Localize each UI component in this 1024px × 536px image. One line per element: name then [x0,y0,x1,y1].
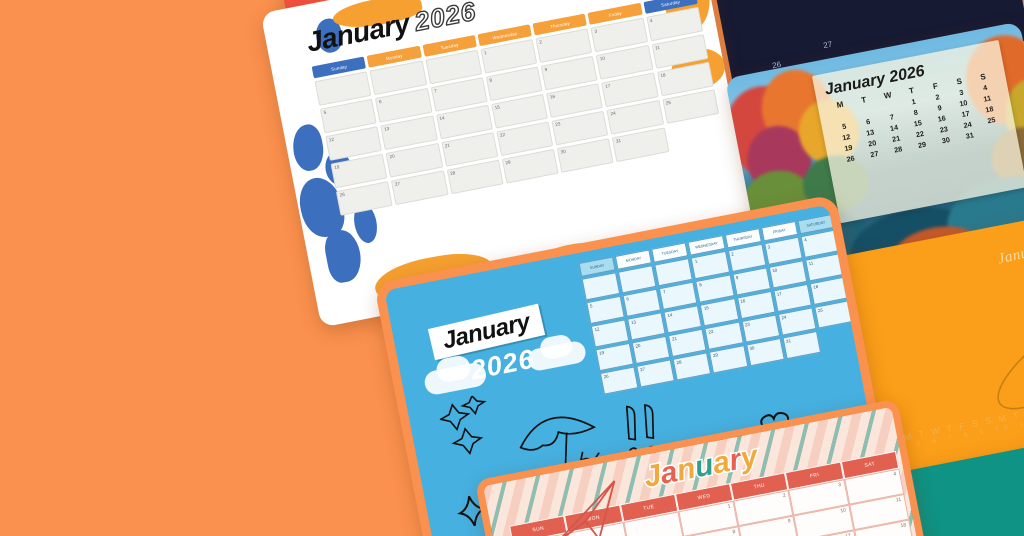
day-number: 1 [484,50,487,55]
day-number: 4 [649,18,652,23]
stars-icon [437,391,509,471]
day-number: 11 [808,260,813,266]
calendar-day-cell[interactable]: 25 [814,300,853,328]
calendar-day-cell[interactable]: 31 [782,331,821,359]
day-number: 8 [489,78,492,83]
day-number: 3 [767,244,770,249]
day-number: 5 [590,303,593,308]
day-number: 14 [439,115,445,121]
day-number: 17 [776,291,782,297]
day-number: 10 [772,267,778,273]
day-number: 25 [665,100,671,106]
day-number: 20 [635,343,641,349]
day-number: 27 [640,366,646,372]
day-number: 5 [323,110,326,115]
day-number: 30 [560,149,566,155]
calendar-day-cell[interactable]: 30 [746,338,785,366]
day-number: 23 [745,322,751,328]
day-number: 14 [667,312,673,318]
day-number: 18 [813,284,819,290]
calendar-day-cell[interactable]: 25 [979,113,1005,126]
day-number: 22 [500,132,506,138]
day-number: 10 [599,56,605,62]
calendar-day-cell[interactable]: 28 [885,143,911,156]
day-number: 26 [603,374,609,380]
day-number: 15 [494,105,500,111]
day-number: 4 [804,237,807,242]
day-number: 8 [699,282,702,287]
day-number: 6 [378,99,381,104]
day-number: 11 [896,497,902,504]
calendar-year: 2026 [412,0,478,37]
day-number: 28 [676,359,682,365]
day-number: 29 [713,352,719,358]
day-number: 8 [732,529,736,535]
day-number: 13 [631,319,637,325]
day-number: 10 [840,507,847,514]
day-number: 7 [434,88,437,93]
calendar-day-cell[interactable]: 27 [862,147,888,160]
day-number: 24 [610,111,616,117]
calendar-day-cell[interactable]: 31 [957,129,983,142]
day-number: 28 [450,170,456,176]
day-number: 1 [727,503,731,509]
day-number: 12 [329,137,335,143]
day-number: 15 [703,305,709,311]
day-number: 31 [615,138,621,144]
poster-canvas: 26 27 January2026 SundayMondayTuesdayWed… [0,0,1024,536]
calendar-year: 2026 [888,63,926,86]
day-number: 3 [594,29,597,34]
day-number: 31 [786,338,792,344]
day-number: 19 [599,350,605,356]
day-number: 3 [838,482,842,488]
day-number: 29 [505,159,511,165]
day-number: 21 [672,336,678,342]
day-number: 12 [594,326,600,332]
day-number: 30 [749,345,755,351]
day-number: 9 [544,67,547,72]
day-number: 26 [339,192,345,198]
day-number: 13 [384,126,390,132]
calendar-day-cell[interactable]: 27 [636,359,675,387]
calendar-day-cell[interactable]: 29 [709,345,748,373]
day-number: 18 [900,522,907,529]
day-number: 16 [550,94,556,100]
day-number: 2 [731,251,734,256]
day-number: 22 [708,329,714,335]
day-number: 21 [444,143,450,149]
blue-calendar-grid: SUNDAYMONDAYTUESDAYWEDNESDAYTHURSDAYFRID… [579,214,858,395]
paper-plane-icon [543,474,644,536]
day-number: 24 [781,315,787,321]
day-number: 1 [694,258,697,263]
day-number: 18 [660,72,666,78]
day-number: 27 [823,40,833,51]
day-number: 17 [605,83,611,89]
day-number: 7 [662,289,665,294]
day-number: 4 [893,471,897,477]
calendar-day-cell[interactable]: 28 [673,352,712,380]
calendar-day-cell[interactable]: 26 [600,366,639,394]
day-number: 9 [787,518,791,524]
day-number: 23 [555,121,561,127]
calendar-day-cell[interactable]: 26 [838,152,864,165]
day-number: 25 [817,307,823,313]
day-number: 19 [334,164,340,170]
day-number: 2 [782,493,786,499]
day-number: 27 [394,181,400,187]
script-title: January 2026 [996,232,1024,269]
day-number: 2 [539,39,542,44]
day-number: 11 [655,45,661,51]
calendar-day-cell[interactable]: 30 [933,133,959,146]
day-number: 9 [735,275,738,280]
day-number: 20 [389,153,395,159]
day-number: 16 [740,298,746,304]
day-number: 6 [626,296,629,301]
calendar-day-cell[interactable]: 29 [909,138,935,151]
